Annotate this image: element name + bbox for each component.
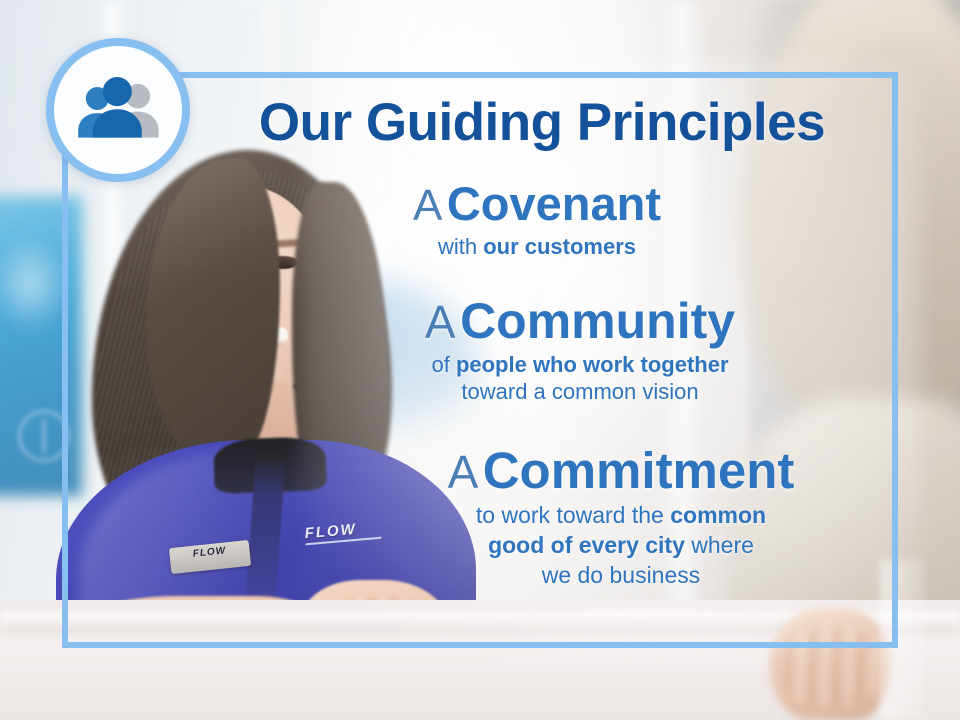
principle-headline: A Commitment [342,444,900,497]
principle-word: Community [460,293,735,349]
principle-word: Commitment [483,442,795,499]
principle-subtext-line: to work toward the common [342,501,900,531]
people-badge [46,38,190,182]
principle-headline: A Covenant [300,180,774,229]
principle-subtext: to work toward the commongood of every c… [342,501,900,591]
vw-logo-blurred-icon [18,410,70,462]
page-title: Our Guiding Principles [212,96,872,149]
principle-covenant: A Covenant with our customers [300,180,900,261]
subtext-run: with [438,234,483,259]
principle-word: Covenant [447,177,661,230]
principle-article: A [425,296,456,348]
poster: FLOW FLOW [0,0,960,720]
subtext-emphasis: common [670,502,766,528]
subtext-emphasis: people who work together [456,352,729,377]
principle-subtext-line: we do business [342,561,900,591]
principle-subtext: of people who work togethertoward a comm… [300,351,860,406]
principle-article: A [413,181,442,230]
principle-subtext-line: with our customers [300,233,774,261]
display-screen-glow [0,236,70,332]
principle-commitment: A Commitment to work toward the commongo… [300,444,900,591]
principle-subtext: with our customers [300,233,774,261]
subtext-run: to work toward the [476,502,670,528]
principle-article: A [448,446,479,498]
principles-list: A Covenant with our customers A Communit… [300,180,900,597]
principle-subtext-line: good of every city where [342,531,900,561]
principle-headline: A Community [300,295,860,347]
principle-subtext-line: of people who work together [300,351,860,379]
principle-community: A Community of people who work togethert… [300,295,900,406]
subtext-emphasis: our customers [483,234,636,259]
subtext-run: we do business [542,562,701,588]
subtext-run: of [431,352,455,377]
people-group-icon [72,74,164,146]
principle-subtext-line: toward a common vision [300,378,860,406]
subtext-run: toward a common vision [461,379,698,404]
subtext-emphasis: good of every city [488,532,685,558]
customer-fingers [784,628,880,708]
subtext-run: where [685,532,754,558]
